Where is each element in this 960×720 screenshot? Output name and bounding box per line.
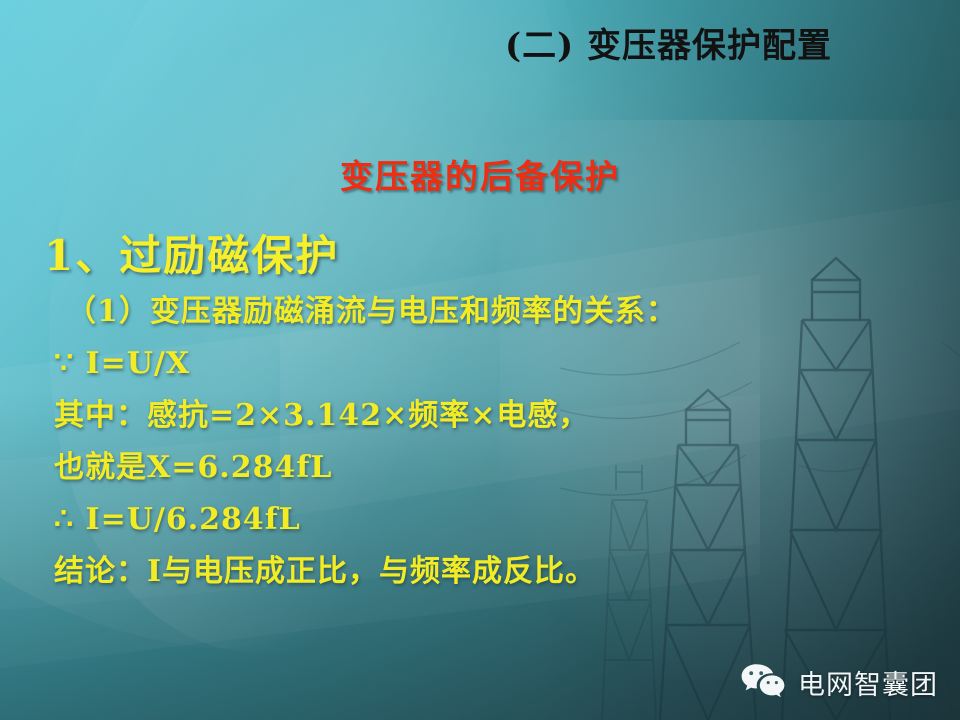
presentation-slide: (二) 变压器保护配置 变压器的后备保护 1、过励磁保护 （1）变压器励磁涌流与… (0, 0, 960, 720)
watermark: 电网智囊团 (740, 662, 938, 702)
body-content: （1）变压器励磁涌流与电压和频率的关系： ∵ I=U/X 其中：感抗=2×3.1… (54, 286, 914, 598)
body-line: （1）变压器励磁涌流与电压和频率的关系： (54, 286, 914, 338)
body-line: ∵ I=U/X (54, 338, 914, 390)
watermark-label: 电网智囊团 (798, 663, 938, 702)
section-subtitle: 变压器的后备保护 (0, 150, 960, 198)
body-line: 也就是X=6.284fL (54, 442, 914, 494)
section-heading: 1、过励磁保护 (44, 222, 339, 283)
page-title: (二) 变压器保护配置 (505, 18, 935, 67)
body-line: 结论：I与电压成正比，与频率成反比。 (54, 546, 914, 598)
body-line: 其中：感抗=2×3.142×频率×电感， (54, 390, 914, 442)
body-line: ∴ I=U/6.284fL (54, 494, 914, 546)
wechat-icon (740, 662, 786, 702)
